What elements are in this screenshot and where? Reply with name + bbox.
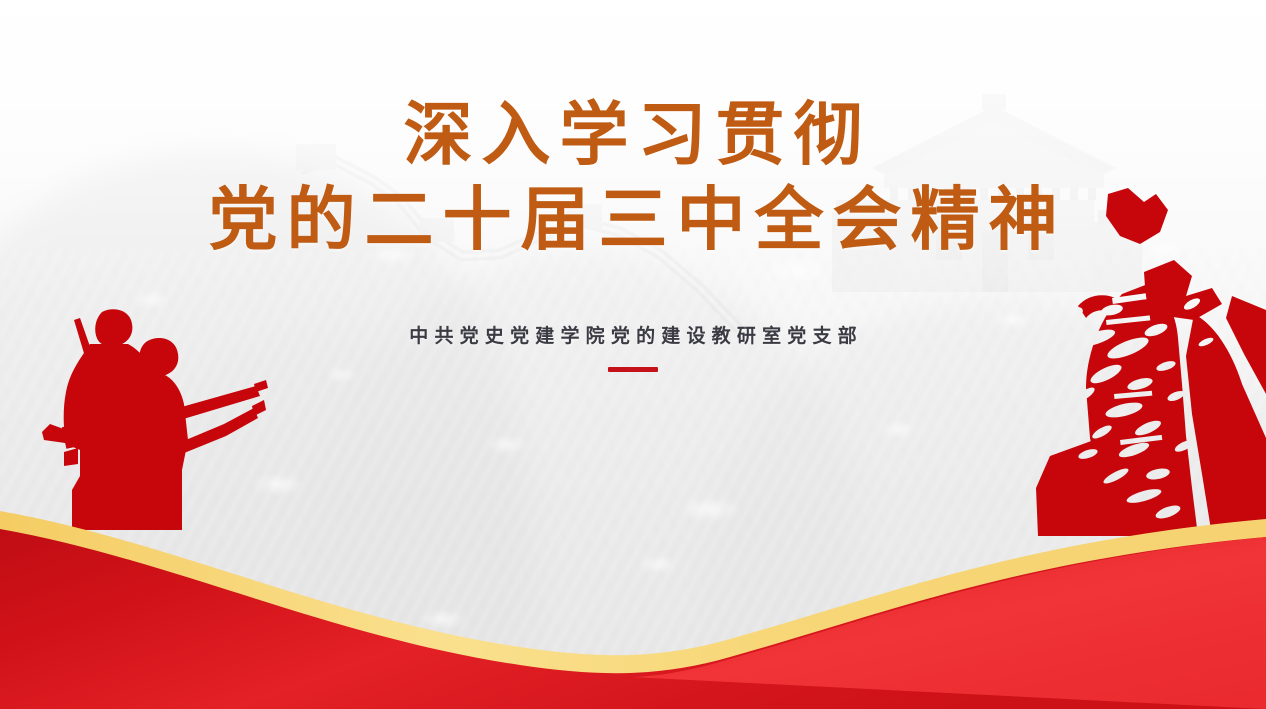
slide-subtitle-group: 中共党史党建学院党的建设教研室党支部 bbox=[0, 321, 1266, 372]
slide-subtitle: 中共党史党建学院党的建设教研室党支部 bbox=[0, 321, 1266, 348]
subtitle-divider-rule bbox=[608, 367, 658, 372]
slide-title: 深入学习贯彻 党的二十届三中全会精神 bbox=[0, 100, 1266, 254]
title-line-1: 深入学习贯彻 bbox=[0, 100, 1266, 169]
title-line-2: 党的二十届三中全会精神 bbox=[0, 185, 1266, 254]
presentation-slide: 深入学习贯彻 党的二十届三中全会精神 中共党史党建学院党的建设教研室党支部 bbox=[0, 0, 1266, 709]
wave-divider bbox=[0, 479, 1266, 709]
